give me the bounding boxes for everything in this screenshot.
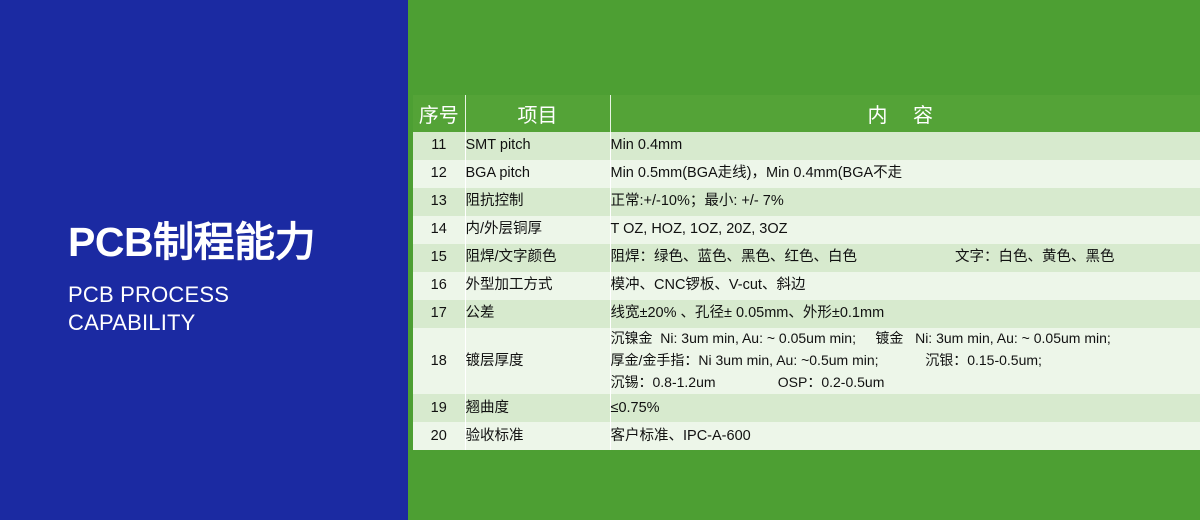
column-header-content: 内 容 [610,95,1200,132]
row-no: 12 [413,160,465,188]
row-no: 17 [413,300,465,328]
column-header-no: 序号 [413,95,465,132]
page-subtitle-line1: PCB PROCESS [68,281,398,309]
row-content: 线宽±20% 、孔径± 0.05mm、外形±0.1mm [610,300,1200,328]
right-content-panel: 序号 项目 内 容 11 SMT pitch Min 0.4mm 12 BGA … [408,0,1200,520]
spec-table-head: 序号 项目 内 容 [413,95,1200,132]
row-no: 13 [413,188,465,216]
row-content: Min 0.5mm(BGA走线)，Min 0.4mm(BGA不走 [610,160,1200,188]
row-no: 19 [413,394,465,422]
table-row: 18 镀层厚度 沉镍金 Ni: 3um min, Au: ~ 0.05um mi… [413,328,1200,394]
row-no: 16 [413,272,465,300]
table-row: 12 BGA pitch Min 0.5mm(BGA走线)，Min 0.4mm(… [413,160,1200,188]
row-content: 沉镍金 Ni: 3um min, Au: ~ 0.05um min; 镀金 Ni… [610,328,1200,394]
row-item: 外型加工方式 [465,272,610,300]
row-content: Min 0.4mm [610,132,1200,160]
spec-table-body: 11 SMT pitch Min 0.4mm 12 BGA pitch Min … [413,132,1200,450]
row-item: 翘曲度 [465,394,610,422]
row-item: 内/外层铜厚 [465,216,610,244]
row-item: 验收标准 [465,422,610,450]
row-content-multiline: 沉镍金 Ni: 3um min, Au: ~ 0.05um min; 镀金 Ni… [611,330,1111,390]
row-no: 15 [413,244,465,272]
spec-table-wrapper: 序号 项目 内 容 11 SMT pitch Min 0.4mm 12 BGA … [413,95,1200,450]
spec-table-header-row: 序号 项目 内 容 [413,95,1200,132]
row-content-part-b: 文字：白色、黄色、黑色 [955,247,1115,268]
title-block: PCB制程能力 PCB PROCESS CAPABILITY [68,222,398,337]
row-no: 20 [413,422,465,450]
table-row: 17 公差 线宽±20% 、孔径± 0.05mm、外形±0.1mm [413,300,1200,328]
table-row: 16 外型加工方式 模冲、CNC锣板、V-cut、斜边 [413,272,1200,300]
row-no: 18 [413,328,465,394]
spec-table: 序号 项目 内 容 11 SMT pitch Min 0.4mm 12 BGA … [413,95,1200,450]
row-item: 镀层厚度 [465,328,610,394]
row-content: T OZ, HOZ, 1OZ, 20Z, 3OZ [610,216,1200,244]
row-content: ≤0.75% [610,394,1200,422]
row-item: 公差 [465,300,610,328]
row-item: SMT pitch [465,132,610,160]
table-row: 19 翘曲度 ≤0.75% [413,394,1200,422]
row-no: 14 [413,216,465,244]
row-content-part-a: 阻焊：绿色、蓝色、黑色、红色、白色 [611,247,858,268]
row-content: 模冲、CNC锣板、V-cut、斜边 [610,272,1200,300]
table-row: 20 验收标准 客户标准、IPC-A-600 [413,422,1200,450]
table-row: 11 SMT pitch Min 0.4mm [413,132,1200,160]
row-content-split: 阻焊：绿色、蓝色、黑色、红色、白色文字：白色、黄色、黑色 [611,247,1200,268]
row-item: 阻焊/文字颜色 [465,244,610,272]
row-content: 正常:+/-10%；最小: +/- 7% [610,188,1200,216]
row-item: BGA pitch [465,160,610,188]
column-header-item: 项目 [465,95,610,132]
table-row: 15 阻焊/文字颜色 阻焊：绿色、蓝色、黑色、红色、白色文字：白色、黄色、黑色 [413,244,1200,272]
row-no: 11 [413,132,465,160]
row-content: 客户标准、IPC-A-600 [610,422,1200,450]
row-content: 阻焊：绿色、蓝色、黑色、红色、白色文字：白色、黄色、黑色 [610,244,1200,272]
row-item: 阻抗控制 [465,188,610,216]
table-row: 13 阻抗控制 正常:+/-10%；最小: +/- 7% [413,188,1200,216]
table-row: 14 内/外层铜厚 T OZ, HOZ, 1OZ, 20Z, 3OZ [413,216,1200,244]
slide-root: PCB制程能力 PCB PROCESS CAPABILITY 序号 项目 [0,0,1200,520]
page-title: PCB制程能力 [68,222,398,263]
page-subtitle-line2: CAPABILITY [68,309,398,337]
left-title-panel: PCB制程能力 PCB PROCESS CAPABILITY [0,0,408,520]
page-subtitle: PCB PROCESS CAPABILITY [68,281,398,337]
